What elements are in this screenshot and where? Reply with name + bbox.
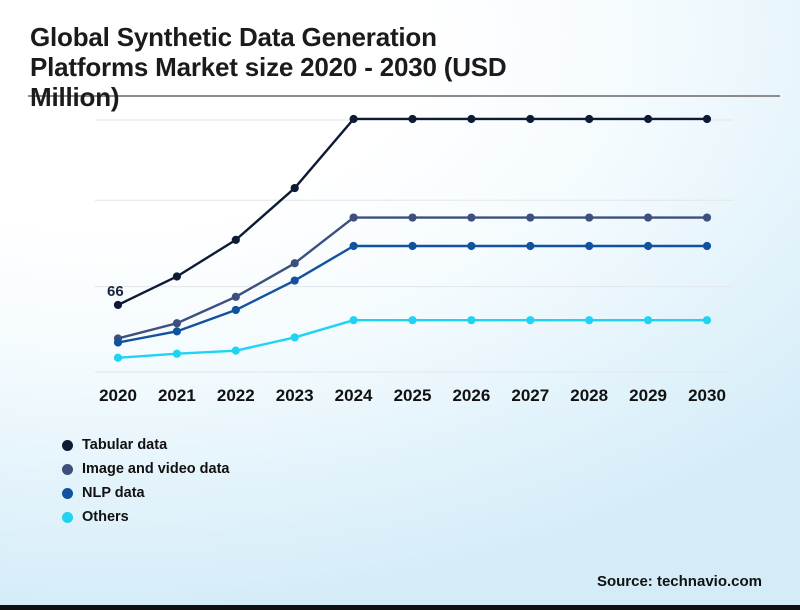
data-point-marker[interactable] (408, 242, 416, 250)
data-point-marker[interactable] (350, 213, 358, 221)
data-point-marker[interactable] (644, 213, 652, 221)
data-point-marker[interactable] (291, 259, 299, 267)
data-point-marker[interactable] (173, 272, 181, 280)
data-point-marker[interactable] (585, 242, 593, 250)
data-point-marker[interactable] (291, 276, 299, 284)
source-attribution: Source: technavio.com (597, 573, 762, 590)
data-point-marker[interactable] (526, 316, 534, 324)
legend-item-0[interactable]: Tabular data (62, 433, 229, 457)
series-line (118, 246, 707, 343)
legend-item-label: Image and video data (82, 461, 229, 477)
data-point-marker[interactable] (467, 242, 475, 250)
data-point-marker[interactable] (526, 115, 534, 123)
legend-item-3[interactable]: Others (62, 505, 229, 529)
legend-marker-icon (62, 464, 73, 475)
data-point-marker[interactable] (350, 115, 358, 123)
data-point-marker[interactable] (408, 316, 416, 324)
data-point-marker[interactable] (232, 306, 240, 314)
data-point-marker[interactable] (585, 316, 593, 324)
data-point-marker[interactable] (644, 242, 652, 250)
series-line (118, 119, 707, 305)
data-point-marker[interactable] (291, 184, 299, 192)
data-point-marker[interactable] (173, 319, 181, 327)
data-point-marker[interactable] (173, 350, 181, 358)
data-point-marker[interactable] (703, 213, 711, 221)
data-point-marker[interactable] (232, 236, 240, 244)
data-point-marker[interactable] (350, 242, 358, 250)
data-point-marker[interactable] (644, 316, 652, 324)
page-title: Global Synthetic Data Generation Platfor… (30, 22, 730, 112)
footer-bar (0, 605, 800, 610)
data-point-marker[interactable] (467, 115, 475, 123)
data-point-marker[interactable] (114, 354, 122, 362)
data-point-marker[interactable] (467, 213, 475, 221)
data-point-marker[interactable] (408, 115, 416, 123)
data-label-first-point: 66 (107, 283, 124, 300)
data-point-marker[interactable] (232, 347, 240, 355)
series-line (118, 320, 707, 358)
legend-item-label: Tabular data (82, 437, 167, 453)
x-axis-labels: 2020202120222023202420252026202720282029… (0, 386, 800, 412)
data-point-marker[interactable] (703, 316, 711, 324)
data-point-marker[interactable] (644, 115, 652, 123)
infographic-container: Global Synthetic Data Generation Platfor… (0, 0, 800, 610)
data-point-marker[interactable] (703, 242, 711, 250)
chart-series-markers (114, 115, 711, 362)
data-point-marker[interactable] (467, 316, 475, 324)
data-point-marker[interactable] (526, 242, 534, 250)
data-point-marker[interactable] (114, 338, 122, 346)
legend-marker-icon (62, 512, 73, 523)
data-point-marker[interactable] (350, 316, 358, 324)
data-point-marker[interactable] (291, 333, 299, 341)
legend-marker-icon (62, 488, 73, 499)
chart-legend: Tabular dataImage and video dataNLP data… (62, 433, 229, 529)
legend-item-label: NLP data (82, 485, 145, 501)
data-point-marker[interactable] (703, 115, 711, 123)
data-point-marker[interactable] (408, 213, 416, 221)
legend-item-label: Others (82, 509, 129, 525)
data-point-marker[interactable] (232, 293, 240, 301)
x-axis-tick-2030: 2030 (672, 386, 742, 406)
legend-item-2[interactable]: NLP data (62, 481, 229, 505)
data-point-marker[interactable] (526, 213, 534, 221)
data-point-marker[interactable] (585, 115, 593, 123)
legend-item-1[interactable]: Image and video data (62, 457, 229, 481)
data-point-marker[interactable] (173, 327, 181, 335)
data-point-marker[interactable] (585, 213, 593, 221)
data-point-marker[interactable] (114, 301, 122, 309)
legend-marker-icon (62, 440, 73, 451)
